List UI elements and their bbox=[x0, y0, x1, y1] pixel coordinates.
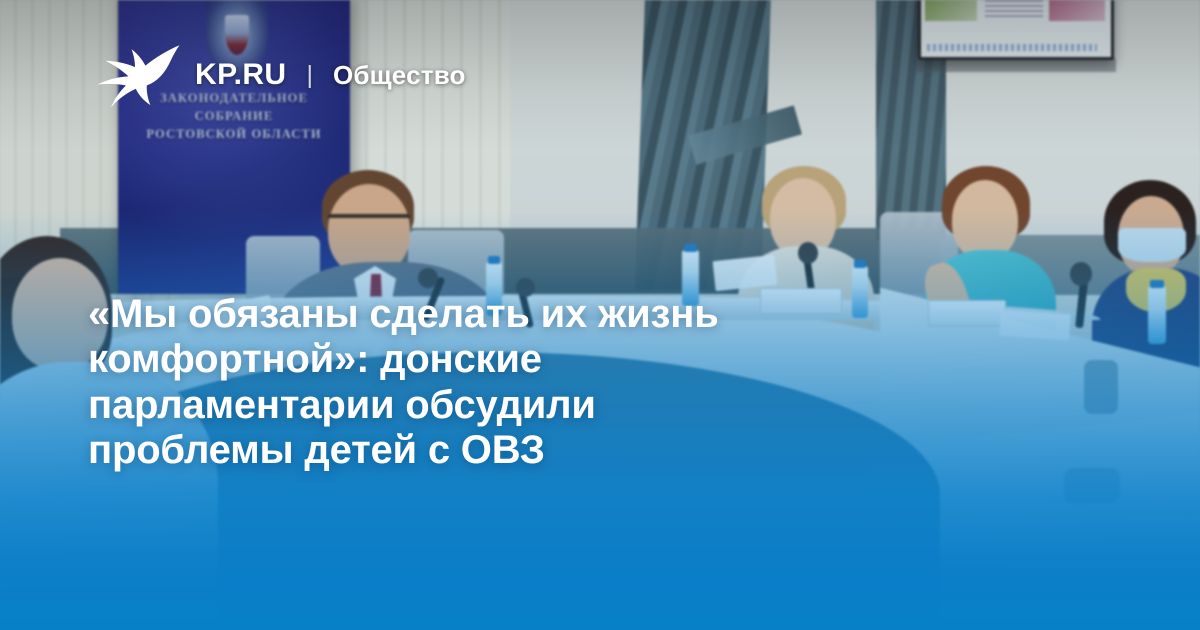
headline-line-1: «Мы обязаны сделать их жизнь bbox=[88, 292, 1050, 337]
kp-share-card: ЗАКОНОДАТЕЛЬНОЕ СОБРАНИЕ РОСТОВСКОЙ ОБЛА… bbox=[0, 0, 1200, 630]
rubric-label[interactable]: Общество bbox=[333, 60, 466, 91]
brand-label: KP.RU bbox=[195, 58, 286, 92]
card-header: KP.RU | Общество bbox=[0, 0, 1200, 150]
brand-block[interactable]: KP.RU | Общество bbox=[0, 42, 466, 108]
header-separator: | bbox=[306, 61, 313, 90]
swallow-bird-icon bbox=[95, 42, 181, 108]
headline: «Мы обязаны сделать их жизнь комфортной»… bbox=[88, 292, 1050, 474]
headline-line-3: парламентарии обсудили bbox=[88, 383, 1050, 428]
headline-line-2: комфортной»: донские bbox=[88, 337, 1050, 382]
headline-line-4: проблемы детей с ОВЗ bbox=[88, 428, 1050, 473]
